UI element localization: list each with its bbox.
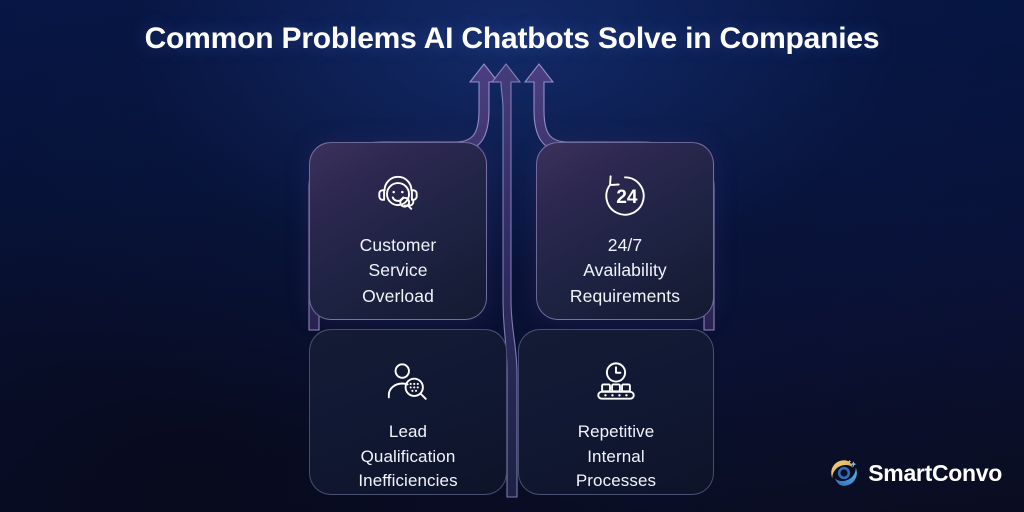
brand-logo: SmartConvo [827,456,1002,490]
clock-conveyor-belt-icon [593,360,639,406]
problem-card-label: Customer Service Overload [348,233,449,309]
clock-24-cycle-icon: 24 [602,173,648,219]
smartconvo-swirl-logo [827,456,861,490]
problem-card-label: 24/7 Availability Requirements [558,233,692,309]
problem-card-customer-service-overload[interactable]: Customer Service Overload [309,142,487,320]
problem-card-availability-requirements[interactable]: 24 24/7 Availability Requirements [536,142,714,320]
icon-24-text: 24 [616,187,638,208]
problem-card-label: Lead Qualification Inefficiencies [346,420,469,494]
brand-name: SmartConvo [868,460,1002,487]
problem-card-lead-qualification-inefficiencies[interactable]: Lead Qualification Inefficiencies [309,329,507,495]
problem-card-repetitive-internal-processes[interactable]: Repetitive Internal Processes [518,329,714,495]
page-title: Common Problems AI Chatbots Solve in Com… [0,22,1024,56]
flow-arrows-layer [0,0,1024,512]
infographic-canvas: Common Problems AI Chatbots Solve in Com… [0,0,1024,512]
person-magnifier-icon [385,360,431,406]
headset-support-agent-icon [375,173,421,219]
problem-card-label: Repetitive Internal Processes [564,420,668,494]
